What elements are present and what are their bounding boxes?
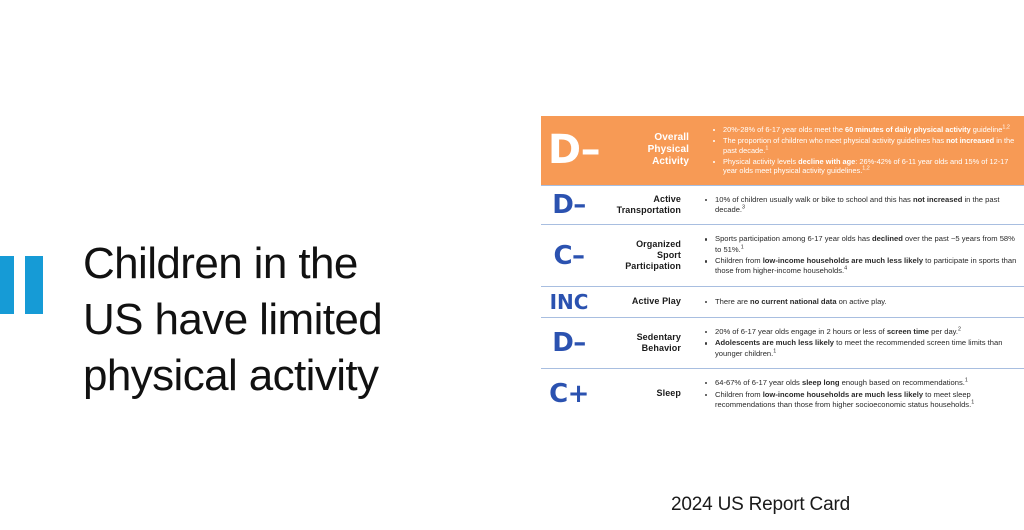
indicator-bullets: 10% of children usually walk or bike to … — [691, 189, 1024, 221]
report-card-row: C–OrganizedSportParticipationSports part… — [541, 224, 1024, 285]
indicator-label-line: Behavior — [597, 343, 681, 354]
indicator-bullets: 20% of 6-17 year olds engage in 2 hours … — [691, 321, 1024, 365]
bullet-item: Sports participation among 6-17 year old… — [703, 234, 1020, 254]
page-title-line: Children in the — [83, 236, 483, 292]
indicator-label-line: Sport — [597, 250, 681, 261]
right-panel: D–OverallPhysicalActivity20%-28% of 6-17… — [497, 0, 1024, 530]
grade-value: C+ — [541, 379, 597, 409]
indicator-bullets: 64-67% of 6-17 year olds sleep long enou… — [691, 372, 1024, 416]
indicator-label-line: Active — [597, 194, 681, 205]
report-card-caption: 2024 US Report Card — [497, 494, 1024, 516]
bullet-item: The proportion of children who meet phys… — [711, 136, 1020, 155]
indicator-label: ActiveTransportation — [597, 194, 691, 216]
indicator-label-line: Participation — [597, 261, 681, 272]
indicator-bullets: 20%-28% of 6-17 year olds meet the 60 mi… — [699, 119, 1024, 182]
report-card-row: D–OverallPhysicalActivity20%-28% of 6-17… — [541, 116, 1024, 185]
page-title: Children in theUS have limitedphysical a… — [83, 236, 483, 404]
indicator-label-line: Overall — [607, 132, 689, 144]
report-card-row: INCActive PlayThere are no current natio… — [541, 286, 1024, 317]
grade-value: D– — [541, 127, 607, 173]
grade-value: C– — [541, 241, 597, 271]
report-card-row: D–ActiveTransportation10% of children us… — [541, 185, 1024, 224]
indicator-label: Active Play — [597, 296, 691, 307]
accent-bars — [0, 256, 43, 314]
page-title-line: US have limited — [83, 292, 483, 348]
indicator-label-line: Organized — [597, 239, 681, 250]
indicator-bullets: There are no current national data on ac… — [691, 291, 1024, 313]
report-card-row: C+Sleep64-67% of 6-17 year olds sleep lo… — [541, 368, 1024, 419]
bullet-item: Physical activity levels decline with ag… — [711, 157, 1020, 176]
left-panel: Children in theUS have limitedphysical a… — [0, 0, 497, 530]
bullet-item: Children from low-income households are … — [703, 256, 1020, 276]
accent-bar-left — [0, 256, 14, 314]
bullet-item: Children from low-income households are … — [703, 390, 1020, 410]
bullet-item: 10% of children usually walk or bike to … — [703, 195, 1020, 215]
indicator-label-line: Sleep — [597, 388, 681, 399]
bullet-item: Adolescents are much less likely to meet… — [703, 338, 1020, 358]
indicator-label-line: Transportation — [597, 205, 681, 216]
bullet-item: 20% of 6-17 year olds engage in 2 hours … — [703, 327, 1020, 337]
indicator-label: SedentaryBehavior — [597, 332, 691, 354]
indicator-bullets: Sports participation among 6-17 year old… — [691, 228, 1024, 282]
page-title-line: physical activity — [83, 348, 483, 404]
indicator-label-line: Physical — [607, 144, 689, 156]
indicator-label-line: Active Play — [597, 296, 681, 307]
accent-bar-right — [25, 256, 43, 314]
grade-value: INC — [541, 290, 597, 314]
indicator-label: Sleep — [597, 388, 691, 399]
indicator-label-line: Sedentary — [597, 332, 681, 343]
indicator-label: OrganizedSportParticipation — [597, 239, 691, 272]
bullet-item: 64-67% of 6-17 year olds sleep long enou… — [703, 378, 1020, 388]
report-card-table: D–OverallPhysicalActivity20%-28% of 6-17… — [541, 116, 1024, 419]
bullet-item: 20%-28% of 6-17 year olds meet the 60 mi… — [711, 125, 1020, 135]
grade-value: D– — [541, 190, 597, 220]
slide-root: Children in theUS have limitedphysical a… — [0, 0, 1024, 530]
grade-value: D– — [541, 328, 597, 358]
indicator-label-line: Activity — [607, 156, 689, 168]
report-card-row: D–SedentaryBehavior20% of 6-17 year olds… — [541, 317, 1024, 368]
bullet-item: There are no current national data on ac… — [703, 297, 1020, 307]
indicator-label: OverallPhysicalActivity — [607, 132, 699, 168]
